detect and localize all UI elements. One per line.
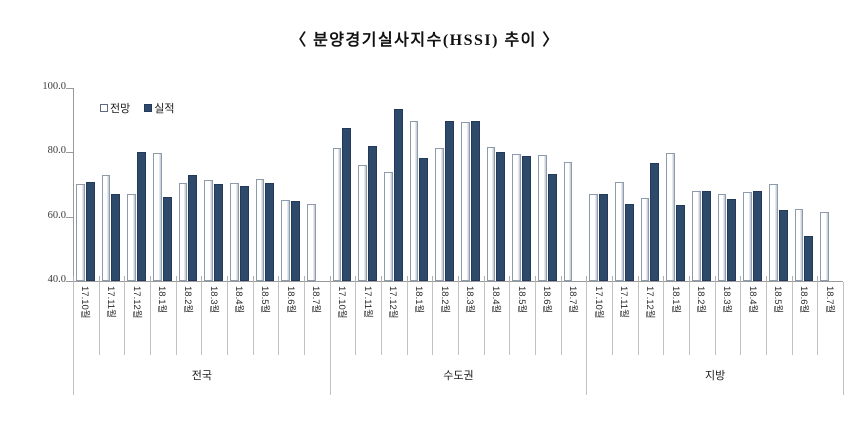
x-axis-month-cell: 17.12월 (381, 282, 407, 355)
x-axis-month-label: 18.2월 (439, 286, 453, 313)
bar-actual (727, 199, 736, 281)
bar-actual (368, 146, 377, 281)
bar-actual (240, 186, 249, 281)
bar-group (586, 88, 612, 281)
x-axis-tick (355, 276, 356, 282)
x-axis-month-label: 18.4월 (490, 286, 504, 313)
bar-group (227, 88, 253, 281)
bar-group (355, 88, 381, 281)
bar-forecast (435, 148, 444, 281)
bar-forecast (384, 172, 393, 281)
page-title: 〈 분양경기실사지수(HSSI) 추이 〉 (0, 26, 850, 50)
y-axis-tick (66, 217, 73, 218)
bar-forecast (410, 121, 419, 281)
bar-forecast (666, 153, 675, 281)
bar-actual (625, 204, 634, 281)
bar-forecast (538, 155, 547, 281)
x-axis-month-cell: 18.5월 (766, 282, 792, 355)
x-axis-month-cell: 17.10월 (330, 282, 356, 355)
bar-forecast (615, 182, 624, 281)
x-axis-month-label: 17.12월 (387, 286, 401, 319)
bar-forecast (76, 184, 85, 281)
x-axis-tick (509, 276, 510, 282)
x-axis-month-cell: 18.7월 (561, 282, 587, 355)
bar-forecast (589, 194, 598, 281)
x-axis-month-label: 18.4월 (233, 286, 247, 313)
x-axis-month-cell: 17.11월 (612, 282, 638, 355)
bar-forecast (461, 122, 470, 281)
x-axis-tick (227, 276, 228, 282)
bar-actual (214, 184, 223, 281)
x-axis-tick (535, 276, 536, 282)
x-axis-month-label: 17.10월 (593, 286, 607, 319)
x-axis-tick (150, 276, 151, 282)
x-axis-month-cell: 18.5월 (253, 282, 279, 355)
x-axis-month-cell: 18.3월 (715, 282, 741, 355)
x-axis-tick (458, 276, 459, 282)
bar-forecast (564, 162, 573, 281)
bar-forecast (179, 183, 188, 281)
y-axis-label: 80.0 (8, 145, 66, 156)
x-axis-tick (766, 276, 767, 282)
legend-label-forecast: 전망 (110, 100, 130, 116)
x-axis-month-cell: 17.11월 (99, 282, 125, 355)
x-axis-month-cell: 18.2월 (432, 282, 458, 355)
legend-label-actual: 실적 (154, 100, 174, 116)
bars-layer (73, 88, 843, 281)
bar-group (150, 88, 176, 281)
legend-swatch-forecast-icon (100, 104, 108, 112)
x-axis-tick (304, 276, 305, 282)
x-axis-month-label: 17.10월 (336, 286, 350, 319)
bar-actual (342, 128, 351, 281)
bar-group (740, 88, 766, 281)
x-axis-month-label: 18.5월 (259, 286, 273, 313)
x-axis-month-cell: 18.3월 (458, 282, 484, 355)
bar-actual (676, 205, 685, 281)
x-axis-group-label: 전국 (192, 367, 212, 383)
x-axis-tick (715, 276, 716, 282)
bar-actual (650, 163, 659, 281)
bar-group (253, 88, 279, 281)
x-axis-month-label: 18.1월 (670, 286, 684, 313)
y-axis-label: 60.0 (8, 210, 66, 221)
y-axis-tick (66, 152, 73, 153)
y-axis-label: 40.0 (8, 274, 66, 285)
bar-group (715, 88, 741, 281)
bar-actual (111, 194, 120, 281)
x-axis-month-label: 17.11월 (362, 286, 376, 318)
x-axis-month-labels: 17.10월17.11월17.12월18.1월18.2월18.3월18.4월18… (73, 282, 843, 355)
bar-forecast (230, 183, 239, 281)
bar-group (458, 88, 484, 281)
x-axis-group-labels: 전국수도권지방 (73, 355, 843, 395)
x-axis-month-label: 17.12월 (131, 286, 145, 319)
bar-forecast (487, 147, 496, 281)
x-axis-month-cell: 18.3월 (201, 282, 227, 355)
x-axis-month-cell: 18.6월 (278, 282, 304, 355)
bar-forecast (127, 194, 136, 281)
x-axis-tick (330, 276, 331, 282)
x-axis-month-label: 18.7월 (567, 286, 581, 313)
x-axis-tick (253, 276, 254, 282)
bar-actual (445, 121, 454, 281)
bar-actual (471, 121, 480, 281)
x-axis-month-label: 18.3월 (464, 286, 478, 313)
bar-group (407, 88, 433, 281)
y-axis-label: 100.0 (8, 81, 66, 92)
bar-actual (779, 210, 788, 281)
bar-group (432, 88, 458, 281)
x-axis-month-label: 18.6월 (798, 286, 812, 313)
bar-group (817, 88, 843, 281)
x-axis-tick (201, 276, 202, 282)
bar-forecast (769, 184, 778, 281)
x-axis-month-label: 18.1월 (413, 286, 427, 313)
bar-actual (419, 158, 428, 281)
bar-forecast (102, 175, 111, 281)
x-axis-month-label: 18.5월 (516, 286, 530, 313)
x-axis-tick (663, 276, 664, 282)
bar-actual (804, 236, 813, 281)
x-axis-month-label: 18.3월 (721, 286, 735, 313)
bar-forecast (307, 204, 316, 281)
x-axis-tick (586, 276, 587, 282)
x-axis-month-cell: 18.7월 (817, 282, 843, 355)
bar-group (381, 88, 407, 281)
x-axis-tick (638, 276, 639, 282)
legend-item-actual: 실적 (144, 100, 174, 116)
bar-actual (188, 175, 197, 281)
x-axis-month-label: 17.12월 (644, 286, 658, 319)
bar-group (201, 88, 227, 281)
bar-forecast (333, 148, 342, 281)
y-axis-tick (66, 88, 73, 89)
x-axis-month-label: 18.5월 (772, 286, 786, 313)
bar-actual (137, 152, 146, 281)
x-axis-month-label: 18.7월 (310, 286, 324, 313)
x-axis-month-cell: 17.11월 (355, 282, 381, 355)
bar-forecast (692, 191, 701, 281)
x-axis-month-cell: 18.4월 (484, 282, 510, 355)
x-axis-month-cell: 18.4월 (740, 282, 766, 355)
x-axis-group-cell: 수도권 (330, 355, 587, 395)
x-axis-month-label: 18.4월 (747, 286, 761, 313)
x-axis-month-cell: 18.5월 (509, 282, 535, 355)
x-axis-tick (73, 276, 74, 282)
x-axis-month-label: 18.3월 (208, 286, 222, 313)
chart-legend: 전망 실적 (100, 100, 175, 116)
x-axis-month-cell-end (843, 282, 844, 355)
bar-forecast (281, 200, 290, 281)
x-axis-month-cell: 18.7월 (304, 282, 330, 355)
x-axis-tick (278, 276, 279, 282)
bar-group (73, 88, 99, 281)
x-axis-month-label: 17.10월 (79, 286, 93, 319)
bar-group (766, 88, 792, 281)
bar-actual (599, 194, 608, 281)
x-axis-tick (407, 276, 408, 282)
x-axis-month-label: 18.6월 (541, 286, 555, 313)
bar-actual (702, 191, 711, 281)
bar-actual (522, 156, 531, 281)
x-axis-tick (432, 276, 433, 282)
x-axis-tick (124, 276, 125, 282)
bar-actual (548, 174, 557, 281)
bar-group (330, 88, 356, 281)
x-axis-month-label: 18.1월 (156, 286, 170, 313)
x-axis-month-cell: 17.12월 (124, 282, 150, 355)
bar-group (612, 88, 638, 281)
x-axis-tick (740, 276, 741, 282)
bar-group (304, 88, 330, 281)
x-axis-month-label: 18.2월 (182, 286, 196, 313)
bar-group (484, 88, 510, 281)
x-axis-month-cell: 18.4월 (227, 282, 253, 355)
bar-actual (291, 201, 300, 281)
x-axis-group-cell-end (843, 355, 844, 395)
bar-group (509, 88, 535, 281)
x-axis-month-cell: 18.6월 (792, 282, 818, 355)
x-axis-group-cell: 전국 (73, 355, 330, 395)
bar-forecast (743, 192, 752, 281)
x-axis-group-label: 수도권 (443, 367, 473, 383)
bar-group (663, 88, 689, 281)
x-axis-month-cell: 18.1월 (663, 282, 689, 355)
bar-forecast (641, 198, 650, 281)
bar-forecast (204, 180, 213, 281)
bar-forecast (256, 179, 265, 281)
x-axis-month-cell: 18.2월 (689, 282, 715, 355)
bar-group (124, 88, 150, 281)
x-axis-tick (99, 276, 100, 282)
x-axis-month-label: 17.11월 (618, 286, 632, 318)
legend-swatch-actual-icon (144, 104, 152, 112)
legend-item-forecast: 전망 (100, 100, 130, 116)
x-axis-month-label: 18.7월 (824, 286, 838, 313)
x-axis-month-cell: 17.10월 (73, 282, 99, 355)
x-axis-tick (689, 276, 690, 282)
y-axis-tick (66, 281, 73, 282)
bar-forecast (795, 209, 804, 281)
x-axis-month-cell: 17.12월 (638, 282, 664, 355)
bar-group (689, 88, 715, 281)
x-axis-month-label: 18.2월 (695, 286, 709, 313)
bar-forecast (153, 153, 162, 281)
bar-group (278, 88, 304, 281)
bar-group (638, 88, 664, 281)
bar-forecast (358, 165, 367, 281)
bar-group (99, 88, 125, 281)
x-axis-month-cell: 18.1월 (150, 282, 176, 355)
x-axis-tick (484, 276, 485, 282)
x-axis-month-cell: 17.10월 (586, 282, 612, 355)
x-axis-tick (561, 276, 562, 282)
bar-group (561, 88, 587, 281)
x-axis-month-cell: 18.6월 (535, 282, 561, 355)
x-axis-tick (612, 276, 613, 282)
x-axis-month-cell: 18.2월 (176, 282, 202, 355)
bar-actual (496, 152, 505, 281)
bar-actual (265, 183, 274, 281)
x-axis-group-cell: 지방 (586, 355, 843, 395)
bar-forecast (718, 194, 727, 281)
bar-actual (86, 182, 95, 281)
bar-group (792, 88, 818, 281)
bar-actual (753, 191, 762, 281)
x-axis-tick (792, 276, 793, 282)
bar-forecast (820, 212, 829, 281)
x-axis-tick (381, 276, 382, 282)
x-axis-tick (817, 276, 818, 282)
bar-group (535, 88, 561, 281)
x-axis-group-label: 지방 (705, 367, 725, 383)
x-axis-month-label: 18.6월 (285, 286, 299, 313)
x-axis-tick (176, 276, 177, 282)
bar-forecast (512, 154, 521, 281)
hssi-chart: 〈 분양경기실사지수(HSSI) 추이 〉 100.080.060.040.0 … (0, 0, 850, 422)
x-axis-month-cell: 18.1월 (407, 282, 433, 355)
bar-actual (163, 197, 172, 281)
bar-group (176, 88, 202, 281)
x-axis-month-label: 17.11월 (105, 286, 119, 318)
bar-actual (394, 109, 403, 281)
